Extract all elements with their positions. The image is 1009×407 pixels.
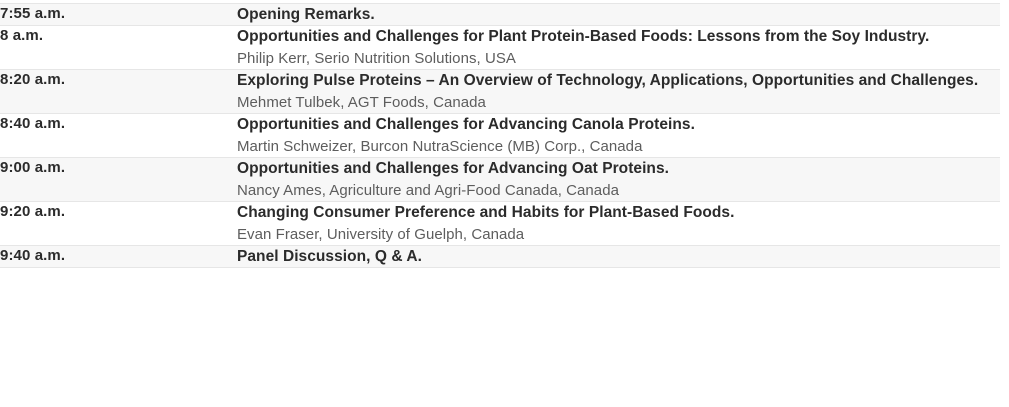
- session-time: 9:00 a.m.: [0, 158, 237, 178]
- session-detail-cell: Panel Discussion, Q & A.: [237, 246, 1000, 268]
- session-detail-cell: Opportunities and Challenges for Plant P…: [237, 26, 1000, 70]
- table-row: 8:40 a.m. Opportunities and Challenges f…: [0, 114, 1000, 158]
- session-speaker: Nancy Ames, Agriculture and Agri-Food Ca…: [237, 180, 1000, 201]
- schedule-container: 7:55 a.m. Opening Remarks. 8 a.m. Opport…: [0, 0, 1009, 268]
- session-title: Opportunities and Challenges for Advanci…: [237, 114, 1000, 135]
- session-time: 8 a.m.: [0, 26, 237, 46]
- table-row: 9:40 a.m. Panel Discussion, Q & A.: [0, 246, 1000, 268]
- session-time-cell: 8 a.m.: [0, 26, 237, 70]
- session-time-cell: 8:20 a.m.: [0, 70, 237, 114]
- session-detail-cell: Changing Consumer Preference and Habits …: [237, 202, 1000, 246]
- session-title: Panel Discussion, Q & A.: [237, 246, 1000, 267]
- session-time: 7:55 a.m.: [0, 4, 237, 24]
- session-time-cell: 8:40 a.m.: [0, 114, 237, 158]
- schedule-table-body: 7:55 a.m. Opening Remarks. 8 a.m. Opport…: [0, 4, 1000, 268]
- session-speaker: Martin Schweizer, Burcon NutraScience (M…: [237, 136, 1000, 157]
- session-title: Opportunities and Challenges for Advanci…: [237, 158, 1000, 179]
- session-time: 8:20 a.m.: [0, 70, 237, 90]
- table-row: 7:55 a.m. Opening Remarks.: [0, 4, 1000, 26]
- session-title: Exploring Pulse Proteins – An Overview o…: [237, 70, 1000, 91]
- session-detail-cell: Opportunities and Challenges for Advanci…: [237, 158, 1000, 202]
- session-time-cell: 9:20 a.m.: [0, 202, 237, 246]
- session-time: 8:40 a.m.: [0, 114, 237, 134]
- session-detail-cell: Exploring Pulse Proteins – An Overview o…: [237, 70, 1000, 114]
- session-speaker: Evan Fraser, University of Guelph, Canad…: [237, 224, 1000, 245]
- session-speaker: Philip Kerr, Serio Nutrition Solutions, …: [237, 48, 1000, 69]
- session-title: Changing Consumer Preference and Habits …: [237, 202, 1000, 223]
- session-detail-cell: Opening Remarks.: [237, 4, 1000, 26]
- schedule-table: 7:55 a.m. Opening Remarks. 8 a.m. Opport…: [0, 3, 1000, 268]
- table-row: 9:00 a.m. Opportunities and Challenges f…: [0, 158, 1000, 202]
- session-time-cell: 9:00 a.m.: [0, 158, 237, 202]
- table-row: 9:20 a.m. Changing Consumer Preference a…: [0, 202, 1000, 246]
- session-time-cell: 9:40 a.m.: [0, 246, 237, 268]
- session-speaker: Mehmet Tulbek, AGT Foods, Canada: [237, 92, 1000, 113]
- session-time: 9:40 a.m.: [0, 246, 237, 266]
- session-time: 9:20 a.m.: [0, 202, 237, 222]
- session-title: Opening Remarks.: [237, 4, 1000, 25]
- session-detail-cell: Opportunities and Challenges for Advanci…: [237, 114, 1000, 158]
- session-title: Opportunities and Challenges for Plant P…: [237, 26, 1000, 47]
- table-row: 8:20 a.m. Exploring Pulse Proteins – An …: [0, 70, 1000, 114]
- session-time-cell: 7:55 a.m.: [0, 4, 237, 26]
- table-row: 8 a.m. Opportunities and Challenges for …: [0, 26, 1000, 70]
